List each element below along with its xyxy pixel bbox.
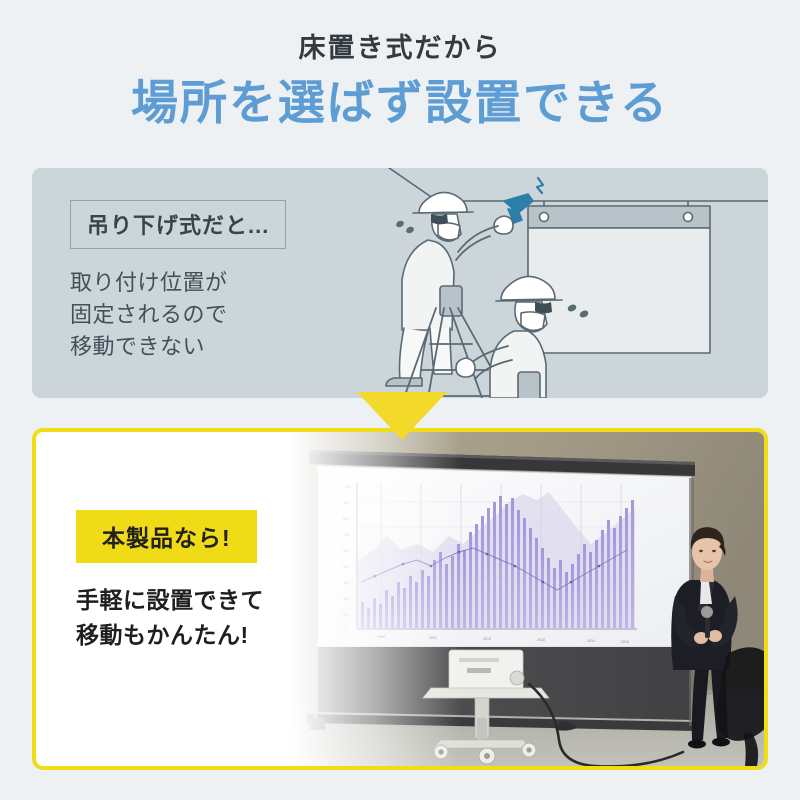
- solution-body-line: 移動もかんたん!: [76, 618, 326, 653]
- problem-body-line: 移動できない: [70, 331, 330, 363]
- down-arrow-icon: [357, 392, 447, 440]
- solution-text-column: 本製品なら! 手軽に設置できて 移動もかんたん!: [76, 510, 326, 652]
- solution-tag-label: 本製品なら!: [76, 510, 257, 563]
- problem-panel: 吊り下げ式だと... 取り付け位置が 固定されるので 移動できない: [32, 168, 768, 398]
- subtitle-text: 床置き式だから: [0, 32, 800, 64]
- problem-tag-label: 吊り下げ式だと...: [70, 200, 286, 249]
- problem-body-line: 固定されるので: [70, 299, 330, 331]
- headline-block: 床置き式だから 場所を選ばず設置できる: [0, 32, 800, 130]
- solution-body-line: 手軽に設置できて: [76, 583, 326, 618]
- promo-page: 床置き式だから 場所を選ばず設置できる 吊り下げ式だと... 取り付け位置が 固…: [0, 0, 800, 800]
- page-title: 場所を選ばず設置できる: [0, 76, 800, 130]
- solution-body-text: 手軽に設置できて 移動もかんたん!: [76, 583, 326, 652]
- floor-standing-screen-presentation-photo: 1000 900 800 700 600 500 400 300 200 0 1…: [291, 432, 764, 766]
- solution-panel: 1000 900 800 700 600 500 400 300 200 0 1…: [32, 428, 768, 770]
- problem-body-text: 取り付け位置が 固定されるので 移動できない: [70, 267, 330, 363]
- ceiling-mounted-screen-installation-illustration: [332, 168, 768, 398]
- problem-body-line: 取り付け位置が: [70, 267, 330, 299]
- problem-text-column: 吊り下げ式だと... 取り付け位置が 固定されるので 移動できない: [70, 200, 330, 363]
